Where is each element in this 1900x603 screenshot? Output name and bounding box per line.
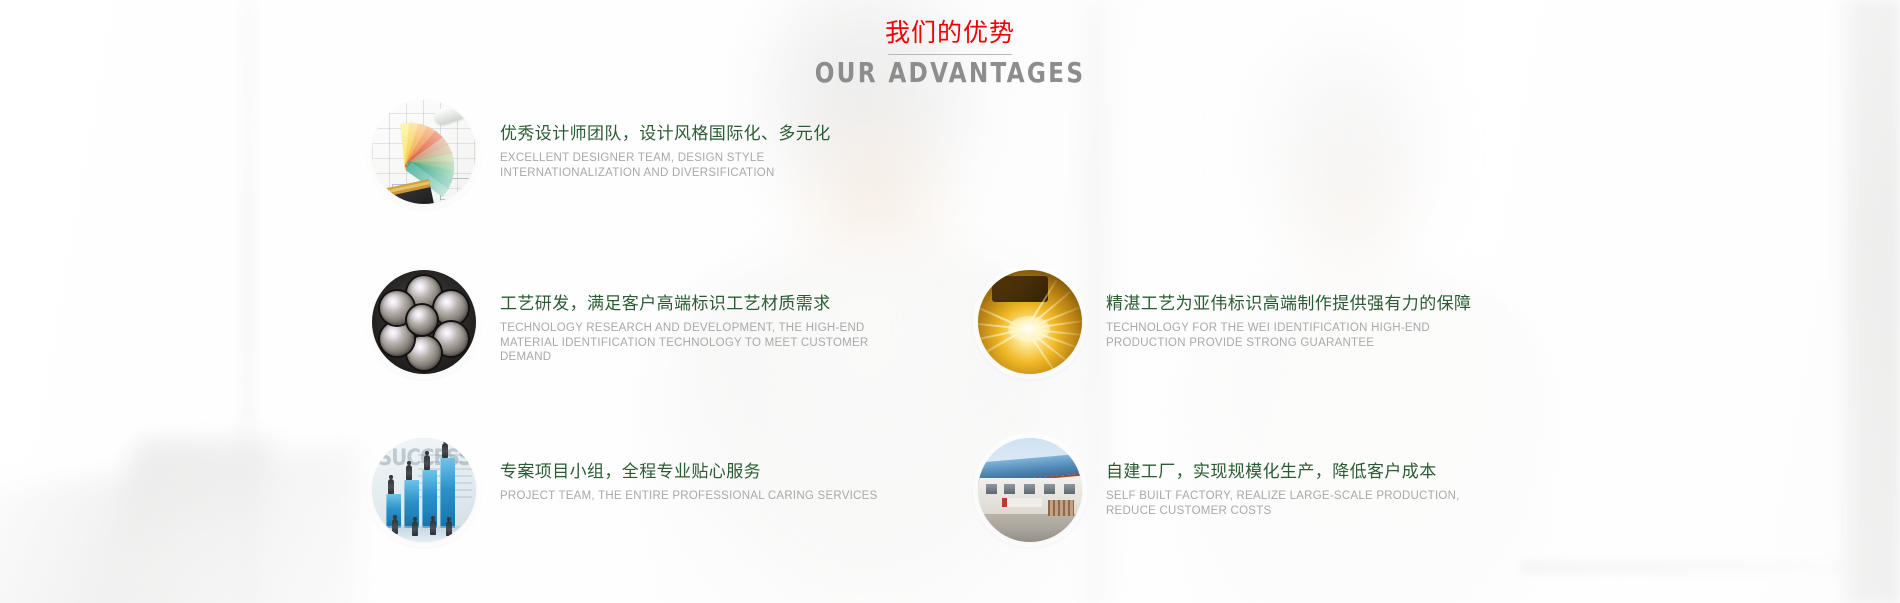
feature-item-designer-team[interactable]: 优秀设计师团队，设计风格国际化、多元化 EXCELLENT DESIGNER T… (372, 100, 932, 204)
feature-text: 自建工厂，实现规模化生产，降低客户成本 SELF BUILT FACTORY, … (1082, 438, 1476, 518)
feature-item-craftsmanship-guarantee[interactable]: 精湛工艺为亚伟标识高端制作提供强有力的保障 TECHNOLOGY FOR THE… (978, 270, 1538, 374)
feature-subtitle: TECHNOLOGY RESEARCH AND DEVELOPMENT, THE… (500, 321, 880, 365)
title-divider (888, 54, 1012, 55)
feature-item-self-built-factory[interactable]: 自建工厂，实现规模化生产，降低客户成本 SELF BUILT FACTORY, … (978, 438, 1538, 542)
factory-building-icon (978, 438, 1082, 542)
feature-item-technology-rnd[interactable]: 工艺研发，满足客户高端标识工艺材质需求 TECHNOLOGY RESEARCH … (372, 270, 932, 374)
feature-title: 优秀设计师团队，设计风格国际化、多元化 (500, 122, 880, 146)
our-advantages-section: 我们的优势 OUR ADVANTAGES (0, 0, 1900, 603)
page-title: 我们的优势 (0, 18, 1900, 48)
feature-text: 专案项目小组，全程专业贴心服务 PROJECT TEAM, THE ENTIRE… (476, 438, 878, 504)
feature-text: 精湛工艺为亚伟标识高端制作提供强有力的保障 TECHNOLOGY FOR THE… (1082, 270, 1476, 350)
feature-title: 精湛工艺为亚伟标识高端制作提供强有力的保障 (1106, 292, 1476, 316)
laser-cutting-sparks-icon (978, 270, 1082, 374)
page-subtitle: OUR ADVANTAGES (76, 57, 1824, 89)
feature-text: 优秀设计师团队，设计风格国际化、多元化 EXCELLENT DESIGNER T… (476, 100, 880, 180)
metal-pipes-bundle-icon (372, 270, 476, 374)
feature-title: 工艺研发，满足客户高端标识工艺材质需求 (500, 292, 880, 316)
feature-item-project-team[interactable]: SUCCESS 专案项目小组，全程专业贴心服务 PROJECT TEAM, TH… (372, 438, 932, 542)
features-grid: 优秀设计师团队，设计风格国际化、多元化 EXCELLENT DESIGNER T… (0, 100, 1900, 578)
feature-subtitle: EXCELLENT DESIGNER TEAM, DESIGN STYLE IN… (500, 151, 880, 180)
section-heading: 我们的优势 OUR ADVANTAGES (0, 18, 1900, 89)
feature-subtitle: SELF BUILT FACTORY, REALIZE LARGE-SCALE … (1106, 489, 1476, 518)
color-swatch-fan-blueprint-icon (372, 100, 476, 204)
feature-row: 工艺研发，满足客户高端标识工艺材质需求 TECHNOLOGY RESEARCH … (0, 270, 1900, 410)
feature-subtitle: TECHNOLOGY FOR THE WEI IDENTIFICATION HI… (1106, 321, 1476, 350)
feature-title: 自建工厂，实现规模化生产，降低客户成本 (1106, 460, 1476, 484)
feature-text: 工艺研发，满足客户高端标识工艺材质需求 TECHNOLOGY RESEARCH … (476, 270, 880, 365)
feature-row: 优秀设计师团队，设计风格国际化、多元化 EXCELLENT DESIGNER T… (0, 100, 1900, 240)
business-growth-chart-icon: SUCCESS (372, 438, 476, 542)
feature-title: 专案项目小组，全程专业贴心服务 (500, 460, 878, 484)
feature-row: SUCCESS 专案项目小组，全程专业贴心服务 PROJECT TEAM, TH… (0, 438, 1900, 578)
feature-subtitle: PROJECT TEAM, THE ENTIRE PROFESSIONAL CA… (500, 489, 878, 504)
